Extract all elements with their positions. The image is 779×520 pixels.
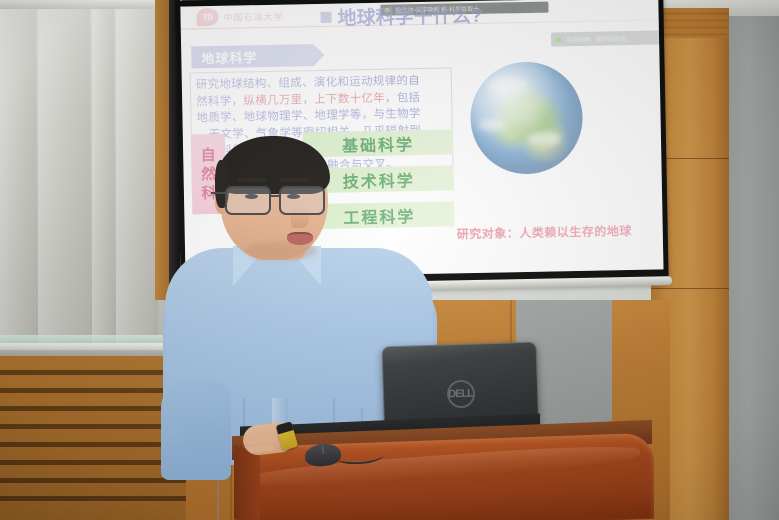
slide-title: 地球科学干什么?	[337, 0, 482, 30]
section-tag-label: 地球科学	[201, 47, 257, 67]
study-object-caption: 研究对象：人类赖以生存的地球	[457, 222, 632, 242]
eyebrow-left	[237, 178, 267, 182]
highlight-2: 上下数十亿年	[314, 92, 385, 105]
podium-front	[236, 433, 654, 520]
arm-left	[161, 380, 231, 480]
highlight-1: 纵横几万里	[243, 94, 302, 107]
anniversary-70-icon: 70	[196, 8, 218, 26]
presentation-photo: 70 中国石油大学 投工作-关学教程 移-科学总取十 手机投屏：教学投影机 地球…	[0, 0, 779, 520]
body-sep: ，	[302, 94, 314, 106]
section-tag: 地球科学	[191, 44, 313, 68]
eyebrow-right	[279, 178, 309, 182]
podium-side	[234, 445, 260, 520]
university-name: 中国石油大学	[223, 9, 283, 23]
slide-title-row: 地球科学干什么?	[320, 0, 571, 32]
body-line-1a: 然科学，	[196, 95, 243, 108]
earth-globe-icon	[469, 61, 583, 175]
body-line-1b: ，包括	[385, 92, 421, 105]
glasses-icon	[221, 186, 325, 212]
mouth	[287, 232, 313, 245]
notification-right-text: 手机投屏：教学投影机	[566, 34, 626, 44]
wall-right	[726, 0, 779, 520]
university-logo: 70 中国石油大学	[196, 7, 283, 27]
radiator-cover	[0, 356, 186, 520]
notification-bar-right: 手机投屏：教学投影机	[551, 30, 664, 47]
door-edge	[155, 0, 169, 300]
chin-shadow	[245, 242, 317, 260]
bullet-square-icon	[320, 11, 331, 22]
mouse-scroll-icon	[322, 446, 324, 454]
cast-icon	[556, 37, 561, 42]
